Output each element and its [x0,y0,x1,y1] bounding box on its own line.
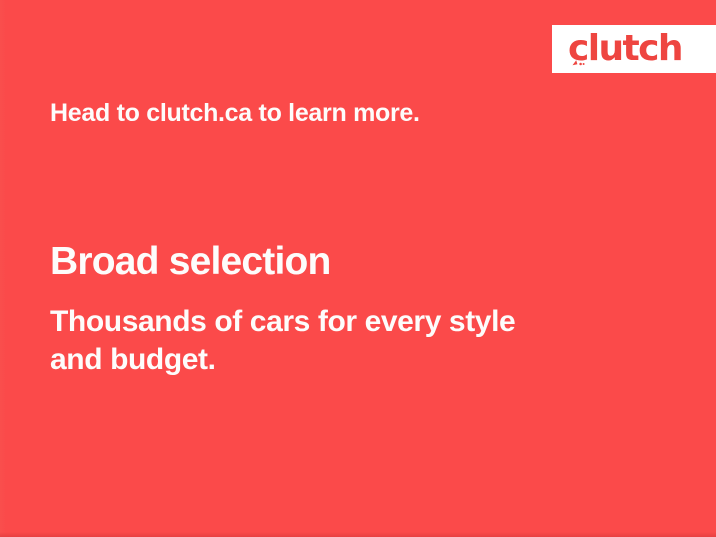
clutch-wordmark-rest: lutch [588,31,682,67]
eyebrow-text: Head to clutch.ca to learn more. [50,100,420,126]
subhead-line-1: Thousands of cars for every style [50,303,610,341]
clutch-c-tick-icon [572,59,585,66]
subhead-text: Thousands of cars for every style and bu… [50,303,610,380]
slide-canvas: c lutch Head to clutch.ca to learn more.… [0,0,716,537]
clutch-wordmark: c lutch [568,31,682,67]
clutch-wordmark-c: c [568,31,588,67]
subhead-line-2: and budget. [50,341,610,379]
clutch-logo-badge[interactable]: c lutch [552,25,716,73]
left-edge-seam [0,0,9,537]
bottom-edge-shade [0,532,716,537]
headline-text: Broad selection [50,242,331,283]
